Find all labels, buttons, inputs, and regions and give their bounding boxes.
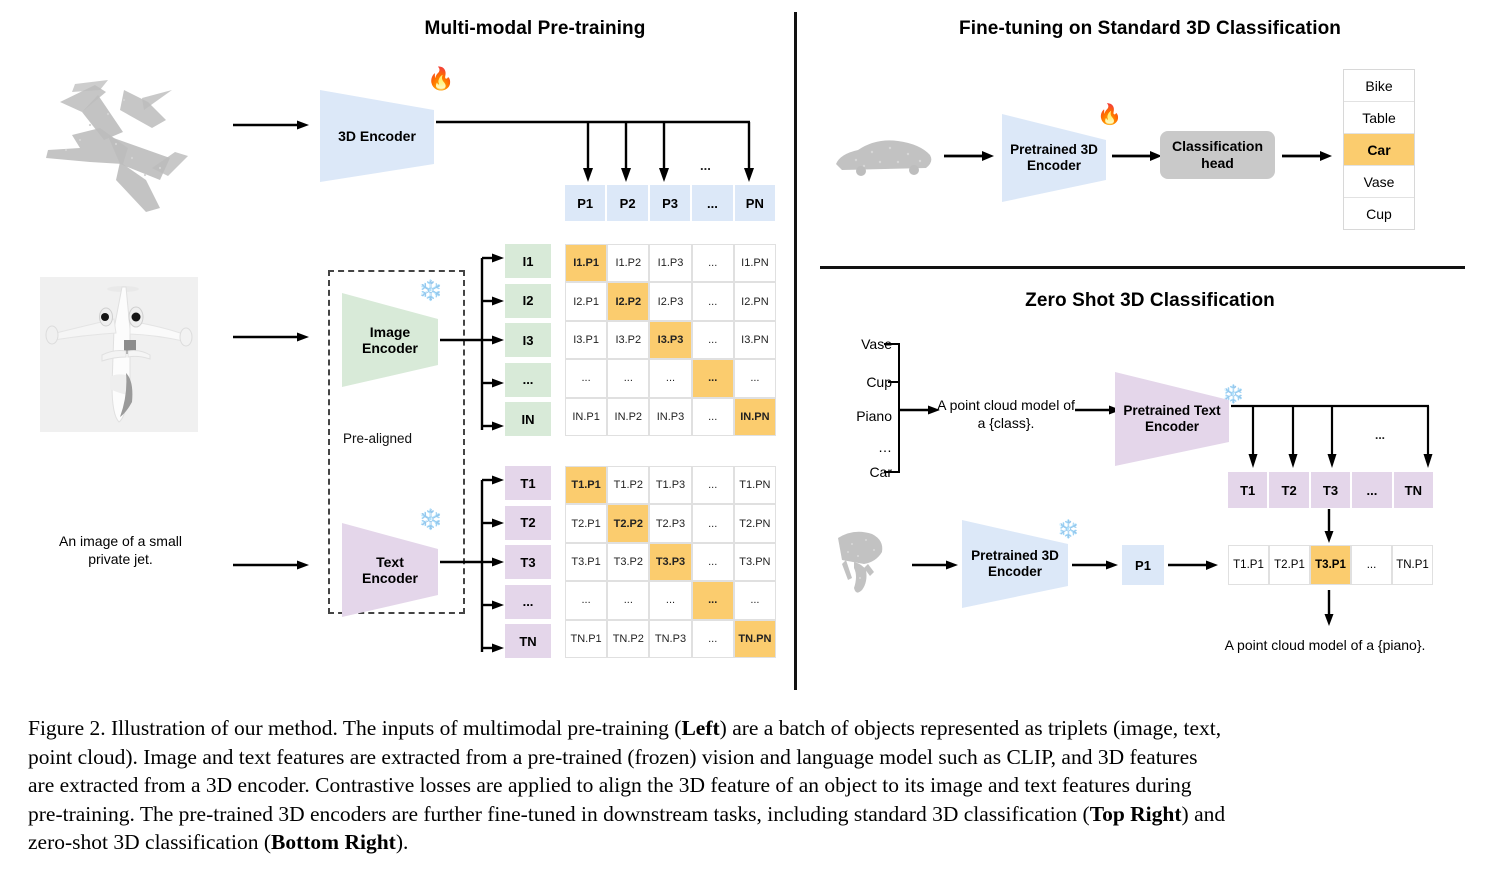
zeroshot-score-cell-3: ... (1351, 545, 1392, 585)
pretrained-3d-encoder-block-zeroshot[interactable]: Pretrained 3DEncoder (960, 518, 1070, 610)
zeroshot-class-name-list: VaseCupPiano…Car (822, 336, 894, 476)
text-matrix-cell-r2c2: T3.P3 (649, 543, 691, 581)
bus-imageencoder-to-image-tokens (440, 250, 506, 436)
text-matrix-cell-r1c0: T2.P1 (565, 504, 607, 542)
text-matrix-cell-r4c2: TN.P3 (649, 620, 691, 658)
text-encoder-label: TextEncoder (340, 521, 440, 619)
panel-title-bottomright: Zero Shot 3D Classification (830, 290, 1470, 312)
encoder-3d-label: 3D Encoder (318, 88, 436, 184)
input-rendered-image (40, 277, 198, 432)
image-matrix-cell-r2c1: I3.P2 (607, 321, 649, 359)
text-matrix-cell-r2c0: T3.P1 (565, 543, 607, 581)
arrow-text-to-textencoder (233, 558, 311, 570)
image-matrix-cell-r3c0: ... (565, 359, 607, 397)
encoder-3d-block[interactable]: 3D Encoder (318, 88, 436, 184)
panel-title-topright: Fine-tuning on Standard 3D Classificatio… (830, 18, 1470, 40)
text-encoder-label-line2: Encoder (362, 570, 418, 586)
arrow-encoder-to-p1 (1072, 558, 1120, 570)
text-encoder-label-line1: Text (376, 554, 404, 570)
brace-tick-cup (888, 381, 900, 383)
text-matrix-cell-r2c1: T3.P2 (607, 543, 649, 581)
text-token-0: T1 (505, 466, 551, 500)
arrow-scores-to-output (1322, 590, 1336, 628)
image-matrix-cell-r2c2: I3.P3 (649, 321, 691, 359)
text-matrix-cell-r0c0: T1.P1 (565, 466, 607, 504)
image-matrix-cell-r0c1: I1.P2 (607, 244, 649, 282)
text-matrix-cell-r3c4: ... (734, 581, 776, 619)
image-matrix-cell-r0c4: I1.PN (734, 244, 776, 282)
zeroshot-score-row: T1.P1T2.P1T3.P1...TN.P1 (1228, 545, 1433, 585)
text-matrix-cell-r4c0: TN.P1 (565, 620, 607, 658)
image-matrix-cell-r3c4: ... (734, 359, 776, 397)
image-point-similarity-matrix: I1.P1I1.P2I1.P3...I1.PNI2.P1I2.P2I2.P3..… (565, 244, 776, 436)
text-matrix-cell-r1c4: T2.PN (734, 504, 776, 542)
class-list-item-4[interactable]: Cup (1344, 198, 1414, 229)
zeroshot-class-1: Cup (822, 374, 892, 390)
classification-head-line2: head (1201, 155, 1234, 171)
text-matrix-cell-r4c3: ... (692, 620, 734, 658)
text-token-column: T1T2T3...TN (505, 466, 551, 658)
image-matrix-cell-r4c2: IN.P3 (649, 398, 691, 436)
image-matrix-cell-r2c3: ... (692, 321, 734, 359)
text-matrix-cell-r0c3: ... (692, 466, 734, 504)
zs-3d-encoder-line1: Pretrained 3D (971, 548, 1059, 563)
image-token-column: I1I2I3...IN (505, 244, 551, 436)
panel-title-left: Multi-modal Pre-training (280, 18, 790, 40)
image-matrix-cell-r4c1: IN.P2 (607, 398, 649, 436)
zs-text-encoder-line1: Pretrained Text (1123, 403, 1220, 418)
pretrained-3d-encoder-block-finetune[interactable]: Pretrained 3DEncoder (1000, 112, 1108, 204)
text-matrix-cell-r0c4: T1.PN (734, 466, 776, 504)
zeroshot-class-0: Vase (822, 336, 892, 352)
zeroshot-score-cell-1: T2.P1 (1269, 545, 1310, 585)
arrow-image-to-imageencoder (233, 330, 311, 342)
text-matrix-cell-r3c3: ... (692, 581, 734, 619)
pretrained-3d-encoder-label-finetune: Pretrained 3DEncoder (1000, 112, 1108, 204)
image-matrix-cell-r3c1: ... (607, 359, 649, 397)
bus-ellipsis-point: ... (700, 158, 711, 173)
input-point-cloud-piano (828, 520, 908, 610)
text-matrix-cell-r1c3: ... (692, 504, 734, 542)
image-matrix-cell-r0c3: ... (692, 244, 734, 282)
text-matrix-cell-r0c2: T1.P3 (649, 466, 691, 504)
point-token-strip: P1P2P3...PN (565, 185, 775, 221)
caption-line-3: pre-training. The pre-trained 3D encoder… (28, 800, 1466, 829)
image-matrix-cell-r4c3: ... (692, 398, 734, 436)
text-matrix-cell-r2c4: T3.PN (734, 543, 776, 581)
zeroshot-class-2: Piano (822, 408, 892, 424)
point-token-0: P1 (565, 185, 605, 221)
image-token-2: I3 (505, 323, 551, 357)
class-list-item-3[interactable]: Vase (1344, 166, 1414, 198)
text-matrix-cell-r3c2: ... (649, 581, 691, 619)
input-point-cloud-airplane (20, 40, 250, 225)
text-matrix-cell-r0c1: T1.P2 (607, 466, 649, 504)
point-token-2: P3 (650, 185, 690, 221)
arrow-texttokens-to-scores (1322, 509, 1336, 545)
zs-text-encoder-line2: Encoder (1145, 419, 1199, 434)
zeroshot-score-cell-4: TN.P1 (1392, 545, 1433, 585)
zs-p1-label: P1 (1135, 558, 1151, 573)
image-token-3: ... (505, 363, 551, 397)
image-matrix-cell-r0c2: I1.P3 (649, 244, 691, 282)
point-token-3: ... (692, 185, 732, 221)
image-matrix-cell-r1c0: I2.P1 (565, 282, 607, 320)
zeroshot-output-text: A point cloud model of a {piano}. (1175, 637, 1475, 655)
arrow-pointcloud-to-3dencoder (233, 118, 311, 130)
horizontal-divider (820, 266, 1465, 269)
text-token-3: ... (505, 585, 551, 619)
zeroshot-score-cell-0: T1.P1 (1228, 545, 1269, 585)
figure-canvas: Multi-modal Pre-training (0, 0, 1490, 700)
zeroshot-class-3: … (822, 439, 892, 455)
image-matrix-cell-r3c2: ... (649, 359, 691, 397)
zs-text-token-1: T2 (1269, 472, 1308, 508)
zeroshot-point-token-p1: P1 (1122, 545, 1164, 585)
prompt-line1: A point cloud model of (937, 397, 1075, 413)
image-matrix-cell-r1c1: I2.P2 (607, 282, 649, 320)
snowflake-icon-zs-3d-encoder: ❄️ (1057, 520, 1079, 538)
text-matrix-cell-r1c1: T2.P2 (607, 504, 649, 542)
zs-text-token-3: ... (1352, 472, 1391, 508)
arrow-encoder-to-head (1112, 149, 1164, 161)
zs-3d-encoder-line2: Encoder (988, 564, 1042, 579)
input-text-caption: An image of a small private jet. (28, 533, 213, 568)
vertical-divider (794, 12, 797, 690)
image-encoder-label-line2: Encoder (362, 340, 418, 356)
brace-tick-top (884, 343, 900, 345)
fire-icon: 🔥 (427, 68, 454, 90)
image-matrix-cell-r4c0: IN.P1 (565, 398, 607, 436)
caption-line-4: zero-shot 3D classification (Bottom Righ… (28, 828, 1466, 857)
image-matrix-cell-r0c0: I1.P1 (565, 244, 607, 282)
image-token-0: I1 (505, 244, 551, 278)
zs-text-token-0: T1 (1228, 472, 1267, 508)
image-encoder-block[interactable]: ImageEncoder (340, 291, 440, 389)
classification-output-list[interactable]: BikeTableCarVaseCup (1343, 69, 1415, 230)
image-matrix-cell-r2c0: I3.P1 (565, 321, 607, 359)
prompt-line2: a {class}. (978, 415, 1035, 431)
text-matrix-cell-r2c3: ... (692, 543, 734, 581)
text-matrix-cell-r3c0: ... (565, 581, 607, 619)
classification-head-block[interactable]: Classificationhead (1160, 131, 1275, 179)
pre-aligned-label: Pre-aligned (343, 431, 412, 446)
class-list-item-1[interactable]: Table (1344, 102, 1414, 134)
arrow-piano-to-encoder (912, 558, 960, 570)
pretrained-text-encoder-label: Pretrained TextEncoder (1113, 370, 1231, 468)
figure-caption: Figure 2. Illustration of our method. Th… (28, 714, 1466, 857)
zeroshot-text-token-strip: T1T2T3...TN (1228, 472, 1433, 508)
caption-line-1: point cloud). Image and text features ar… (28, 743, 1466, 772)
bus-3dencoder-to-point-tokens (436, 110, 766, 190)
classification-head-line1: Classification (1172, 138, 1263, 154)
ft-encoder-line2: Encoder (1027, 158, 1081, 173)
text-encoder-block[interactable]: TextEncoder (340, 521, 440, 619)
image-token-1: I2 (505, 284, 551, 318)
point-token-4: PN (735, 185, 775, 221)
class-list-item-0[interactable]: Bike (1344, 70, 1414, 102)
text-matrix-cell-r3c1: ... (607, 581, 649, 619)
text-token-1: T2 (505, 506, 551, 540)
input-text-caption-line2: private jet. (88, 551, 153, 567)
caption-line-0: Figure 2. Illustration of our method. Th… (28, 714, 1466, 743)
pretrained-3d-encoder-label-zeroshot: Pretrained 3DEncoder (960, 518, 1070, 610)
image-token-4: IN (505, 402, 551, 436)
brace-tick-bottom (884, 471, 900, 473)
image-matrix-cell-r1c2: I2.P3 (649, 282, 691, 320)
zeroshot-score-cell-2: T3.P1 (1310, 545, 1351, 585)
zeroshot-prompt-template: A point cloud model of a {class}. (910, 397, 1102, 432)
ft-encoder-line1: Pretrained 3D (1010, 142, 1098, 157)
image-matrix-cell-r2c4: I3.PN (734, 321, 776, 359)
image-matrix-cell-r3c3: ... (692, 359, 734, 397)
input-point-cloud-car (828, 128, 938, 184)
zeroshot-class-4: Car (822, 464, 892, 480)
arrow-car-to-encoder (944, 149, 996, 161)
pretrained-text-encoder-block[interactable]: Pretrained TextEncoder (1113, 370, 1231, 468)
caption-line-2: are extracted from a 3D encoder. Contras… (28, 771, 1466, 800)
zs-text-token-4: TN (1394, 472, 1433, 508)
zs-text-token-2: T3 (1311, 472, 1350, 508)
text-token-2: T3 (505, 545, 551, 579)
bus-textencoder-to-zs-text-tokens (1231, 398, 1441, 478)
input-text-caption-line1: An image of a small (59, 533, 182, 549)
image-matrix-cell-r1c4: I2.PN (734, 282, 776, 320)
image-encoder-label: ImageEncoder (340, 291, 440, 389)
fire-icon-finetune: 🔥 (1097, 105, 1122, 125)
point-token-1: P2 (607, 185, 647, 221)
arrow-p1-to-scores (1168, 558, 1220, 570)
image-matrix-cell-r1c3: ... (692, 282, 734, 320)
arrow-head-to-classlist (1282, 149, 1334, 161)
text-matrix-cell-r4c1: TN.P2 (607, 620, 649, 658)
text-token-4: TN (505, 624, 551, 658)
class-list-item-2[interactable]: Car (1344, 134, 1414, 166)
bus-textencoder-to-text-tokens (440, 472, 506, 658)
zs-bus-ellipsis: ... (1375, 428, 1385, 442)
text-matrix-cell-r4c4: TN.PN (734, 620, 776, 658)
text-matrix-cell-r1c2: T2.P3 (649, 504, 691, 542)
image-matrix-cell-r4c4: IN.PN (734, 398, 776, 436)
text-point-similarity-matrix: T1.P1T1.P2T1.P3...T1.PNT2.P1T2.P2T2.P3..… (565, 466, 776, 658)
image-encoder-label-line1: Image (370, 324, 410, 340)
